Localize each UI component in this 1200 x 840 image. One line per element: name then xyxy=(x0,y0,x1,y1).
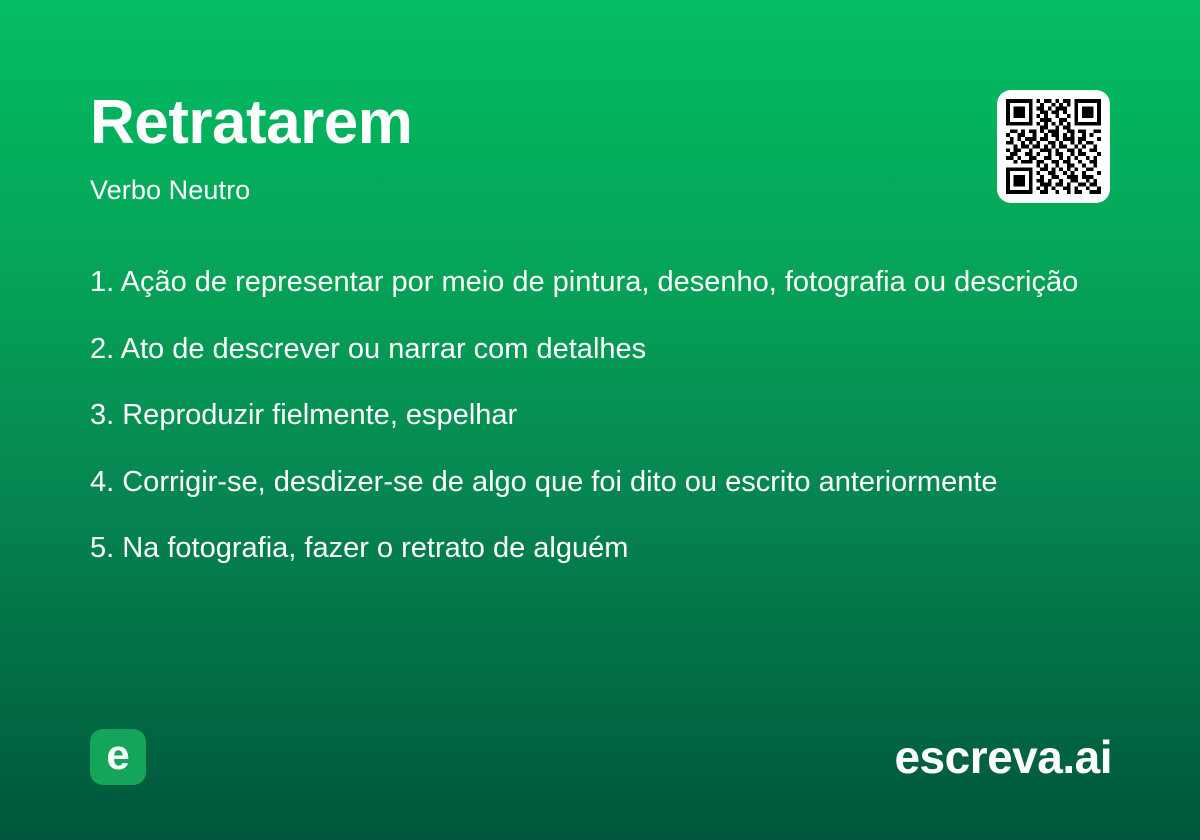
definition-item: 1. Ação de representar por meio de pintu… xyxy=(90,263,1100,302)
card-footer: e escreva.ai xyxy=(90,729,1112,785)
definition-item: 4. Corrigir-se, desdizer-se de algo que … xyxy=(90,463,1100,502)
page-title: Retratarem xyxy=(90,92,412,154)
definition-item: 5. Na fotografia, fazer o retrato de alg… xyxy=(90,529,1100,568)
definitions-list: 1. Ação de representar por meio de pintu… xyxy=(90,263,1110,568)
qr-code[interactable] xyxy=(997,90,1110,203)
word-class-label: Verbo Neutro xyxy=(90,175,412,206)
header-text-group: Retratarem Verbo Neutro xyxy=(90,88,412,206)
escreva-logo-icon: e xyxy=(90,729,146,785)
definition-item: 3. Reproduzir fielmente, espelhar xyxy=(90,396,1100,435)
definition-item: 2. Ato de descrever ou narrar com detalh… xyxy=(90,330,1100,369)
definition-card: Retratarem Verbo Neutro xyxy=(0,0,1200,840)
card-header: Retratarem Verbo Neutro xyxy=(90,88,1110,206)
logo-letter: e xyxy=(106,734,129,776)
brand-wordmark: escreva.ai xyxy=(894,730,1112,784)
